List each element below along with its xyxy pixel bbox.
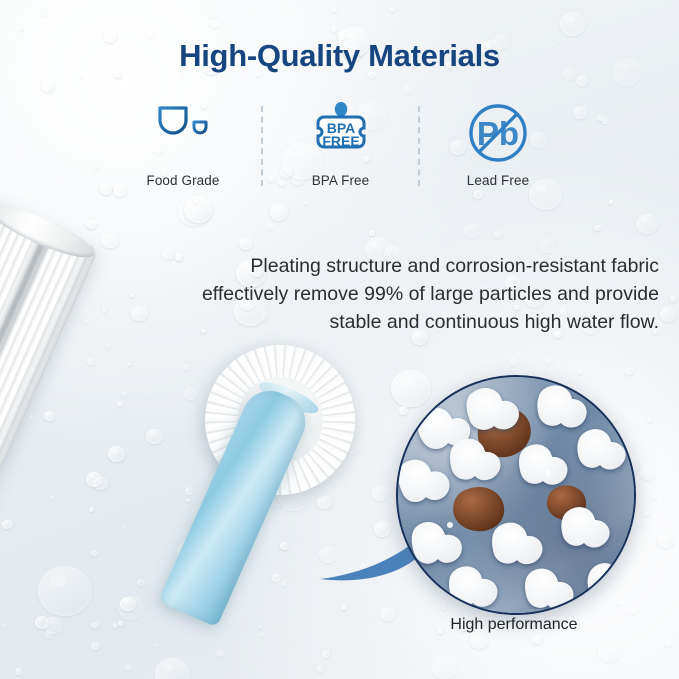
water-droplet: [647, 418, 652, 423]
water-droplet: [470, 632, 488, 649]
filter-pleated-body: [0, 201, 99, 678]
filter-shading: [0, 201, 99, 678]
certification-badges: Food Grade BPA FREE BPA Free Pb: [118, 100, 563, 195]
water-droplet: [609, 200, 613, 204]
water-droplet: [403, 85, 413, 94]
water-droplet: [111, 198, 114, 201]
water-droplet: [545, 357, 552, 364]
water-droplet: [210, 11, 218, 18]
glass-and-fork-icon: [152, 100, 214, 166]
badge-food-grade: Food Grade: [118, 100, 248, 188]
product-infographic: High-Quality Materials Foo: [0, 0, 679, 679]
magnified-fiber-structure: [396, 375, 636, 615]
water-droplet: [210, 17, 222, 28]
water-droplet: [640, 466, 656, 480]
water-droplet: [194, 200, 198, 204]
water-droplet: [510, 358, 518, 366]
water-droplet: [594, 225, 601, 232]
water-droplet: [573, 106, 587, 119]
badge-label: Lead Free: [467, 173, 529, 188]
badge-divider-1: [261, 106, 263, 186]
water-droplet: [636, 214, 658, 234]
water-droplet: [597, 115, 603, 120]
water-droplet: [576, 75, 588, 86]
water-droplet: [598, 640, 622, 662]
badge-lead-free: Pb Lead Free: [433, 100, 563, 188]
water-droplet: [577, 369, 582, 373]
water-droplet: [380, 607, 395, 621]
water-droplet: [43, 12, 47, 16]
water-droplet: [20, 28, 24, 31]
water-droplet: [657, 533, 674, 549]
magnifier-caption: High performance: [396, 616, 632, 634]
water-droplet: [560, 12, 586, 36]
water-droplet: [100, 183, 113, 195]
badge-label: BPA Free: [312, 173, 370, 188]
water-droplet: [331, 6, 337, 12]
page-title: High-Quality Materials: [0, 38, 679, 74]
water-droplet: [41, 80, 54, 92]
badge-bpa-free: BPA FREE BPA Free: [276, 100, 406, 188]
water-droplet: [390, 7, 395, 12]
water-droplet: [79, 75, 82, 78]
water-droplet: [660, 307, 677, 322]
water-droplet: [625, 367, 634, 375]
water-droplet: [601, 117, 609, 124]
water-droplet: [305, 202, 309, 205]
fiber-blobs-layer: [398, 377, 630, 609]
water-droplet: [93, 164, 100, 170]
water-droplet: [670, 296, 676, 302]
badge-divider-2: [418, 106, 420, 186]
bpa-free-shield-icon: BPA FREE: [310, 100, 372, 166]
water-droplet: [369, 230, 375, 236]
water-droplet: [494, 231, 502, 238]
water-droplet: [531, 634, 542, 645]
water-droplet: [331, 26, 337, 32]
svg-text:FREE: FREE: [322, 133, 359, 149]
water-droplet: [431, 655, 458, 679]
no-lead-icon: Pb: [467, 100, 529, 166]
water-droplet: [651, 494, 656, 499]
water-droplet: [464, 223, 481, 239]
water-droplet: [665, 640, 673, 647]
badge-label: Food Grade: [146, 173, 219, 188]
water-droplet: [643, 510, 650, 516]
